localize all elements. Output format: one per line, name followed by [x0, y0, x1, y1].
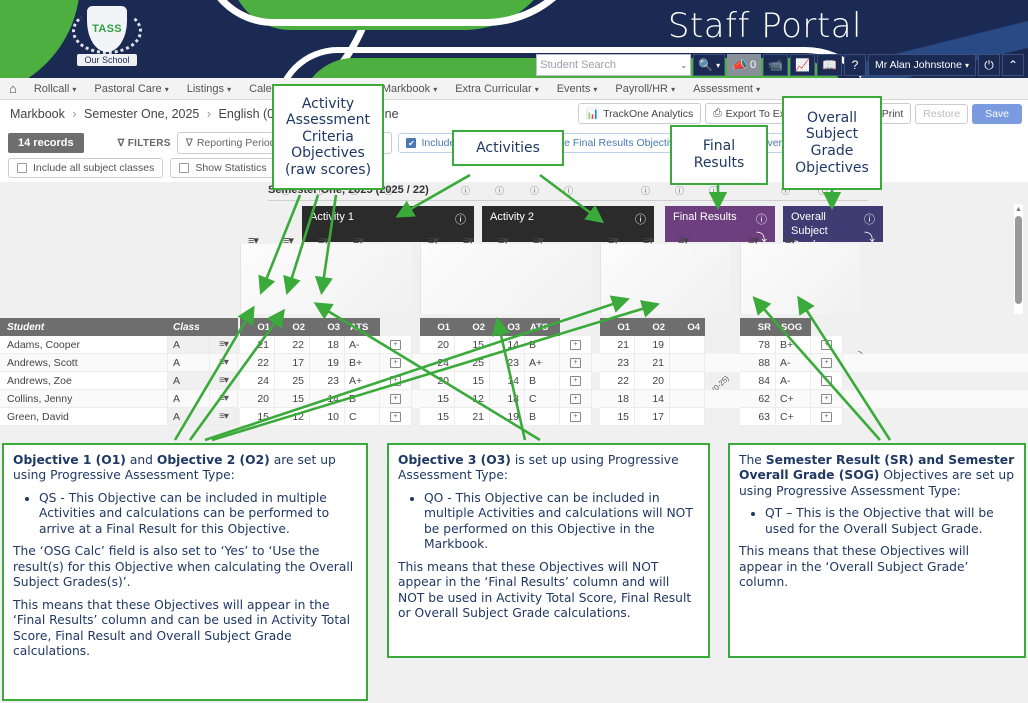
logo-text: TASS — [92, 23, 122, 35]
nav-label: Payroll/HR — [615, 83, 668, 95]
annotation-final-results: Final Results — [670, 125, 768, 185]
annotation-final-results-text: Final Results — [694, 138, 745, 171]
note-icon: + — [570, 394, 581, 404]
nav-events[interactable]: Events ▾ — [548, 83, 607, 95]
cell-a1-o3[interactable]: 19 — [310, 354, 345, 372]
user-name-label: Mr Alan Johnstone — [875, 59, 962, 71]
note-middle-bullet-qo: QO - This Objective can be included in m… — [424, 491, 699, 553]
column-menu-icon[interactable]: ≡▾ — [608, 234, 618, 247]
annotation-activity-criteria-text: Activity Assessment Criteria Objectives … — [285, 96, 371, 179]
group-title: Activity 2 — [490, 211, 534, 237]
cell-a1-note[interactable]: + — [380, 408, 412, 426]
subheader-fr-o4[interactable]: O4 — [670, 318, 705, 336]
cell-osg-note[interactable]: + — [811, 336, 843, 354]
cell-a2-o3[interactable]: 14 — [490, 372, 525, 390]
cell-class: A — [168, 336, 210, 354]
row-menu-icon[interactable]: ≡▾ — [210, 390, 238, 408]
cell-a2-o1[interactable]: 15 — [420, 408, 455, 426]
video-camera-icon: 📹 — [768, 59, 783, 71]
book-icon: 📖 — [822, 59, 837, 71]
cell-a2-o2[interactable]: 15 — [455, 336, 490, 354]
column-menu-icon[interactable]: ≡▾ — [533, 234, 543, 247]
nav-label: Listings — [187, 83, 224, 95]
subheader-a2-o1[interactable]: O1 — [420, 318, 455, 336]
filters-text: FILTERS — [128, 138, 171, 149]
chevron-down-icon: ▾ — [535, 85, 539, 94]
column-menu-icon[interactable]: ≡▾ — [428, 234, 438, 247]
note-icon: + — [821, 412, 832, 422]
note-middle-paragraph-1: Objective 3 (O3) is set up using Progres… — [398, 453, 699, 484]
clock-icon[interactable]: ⓘ — [495, 184, 504, 197]
cell-a1-ats[interactable]: A- — [345, 336, 380, 354]
column-band-final-results — [600, 244, 730, 314]
filter-icon: ∇ — [118, 138, 125, 149]
cell-a1-o1[interactable]: 15 — [240, 408, 275, 426]
include-all-subject-classes-checkbox[interactable]: Include all subject classes — [8, 158, 163, 178]
cell-osg-sog[interactable]: A- — [776, 372, 811, 390]
documents-button[interactable]: 📖 — [817, 54, 842, 76]
column-band-overall-subject-grades — [740, 244, 860, 314]
clock-icon[interactable]: ⓘ — [564, 184, 573, 197]
cell-fr-o4[interactable] — [670, 390, 705, 408]
cell-fr-o1[interactable]: 15 — [600, 408, 635, 426]
note-right-bullets: QT – This is the Objective that will be … — [739, 506, 1015, 537]
reporting-periods-label: Reporting Periods — [197, 137, 281, 149]
cell-fr-o1[interactable]: 23 — [600, 354, 635, 372]
user-menu[interactable]: Mr Alan Johnstone ▾ — [868, 54, 976, 76]
shield-icon: TASS — [87, 6, 127, 52]
cell-class: A — [168, 354, 210, 372]
group-header-overall-subject-grades[interactable]: Overall Subject Grades ⓘ ⤵ — [783, 206, 883, 242]
chevron-down-icon: ▾ — [72, 85, 76, 94]
school-logo[interactable]: TASS Our School — [72, 4, 142, 76]
table-row[interactable]: Green, David A ≡▾ 15 12 10 C + 15 21 19 … — [0, 408, 1028, 426]
column-band-activity-2 — [420, 244, 592, 314]
note-icon: + — [570, 376, 581, 386]
subheader-osg-sr[interactable]: SR — [740, 318, 776, 336]
note-left-bullets: QS - This Objective can be included in m… — [13, 491, 357, 537]
cell-a2-note[interactable]: + — [560, 354, 592, 372]
table-row[interactable]: Andrews, Scott A ≡▾ 22 17 19 B+ + 24 25 … — [0, 354, 1028, 372]
search-placeholder: Student Search — [540, 59, 680, 71]
search-input[interactable]: Student Search ⌄ — [536, 54, 691, 76]
cell-a1-o1[interactable]: 22 — [240, 354, 275, 372]
collapse-banner-button[interactable]: ⌃ — [1002, 54, 1024, 76]
column-menu-icon[interactable]: ≡▾ — [318, 234, 328, 247]
note-left-paragraph-1: Objective 1 (O1) and Objective 2 (O2) ar… — [13, 453, 357, 484]
cell-osg-sog[interactable]: A- — [776, 354, 811, 372]
cell-a2-o1[interactable]: 15 — [420, 390, 455, 408]
cell-class: A — [168, 390, 210, 408]
home-icon: ⌂ — [9, 81, 17, 96]
column-menu-icon[interactable]: ≡▾ — [785, 234, 795, 247]
column-menu-icon[interactable]: ≡▾ — [353, 234, 363, 247]
cell-a1-o2[interactable]: 25 — [275, 372, 310, 390]
top-utility-bar: Student Search ⌄ 🔍 ▾ 📣 0 📹 📈 📖 ? Mr Alan… — [536, 54, 1024, 76]
scroll-up-icon[interactable]: ▲ — [1015, 206, 1022, 213]
subheader-a1-ats[interactable]: ATS — [345, 318, 380, 336]
chevron-down-icon: ▾ — [756, 85, 760, 94]
note-icon: + — [390, 358, 401, 368]
note-middle-bold-o3: Objective 3 (O3) — [398, 453, 511, 467]
cell-fr-o2[interactable]: 20 — [635, 372, 670, 390]
column-menu-icon[interactable]: ≡▾ — [283, 234, 293, 247]
cell-a2-o2[interactable]: 15 — [455, 372, 490, 390]
cell-a2-o2[interactable]: 12 — [455, 390, 490, 408]
search-button[interactable]: 🔍 ▾ — [693, 54, 725, 76]
annotation-overall-subject-text: Overall Subject Grade Objectives — [795, 110, 869, 176]
note-icon: + — [570, 358, 581, 368]
chevron-down-icon: ▾ — [965, 61, 969, 70]
cell-a2-note[interactable]: + — [560, 372, 592, 390]
cell-fr-o1[interactable]: 21 — [600, 336, 635, 354]
subheader-a1-o1[interactable]: O1 — [240, 318, 275, 336]
subheader-a2-ats[interactable]: ATS — [525, 318, 560, 336]
note-icon: + — [390, 340, 401, 350]
logo-ribbon: Our School — [77, 54, 137, 66]
cell-a2-ats[interactable]: C — [525, 390, 560, 408]
print-label: Print — [882, 108, 904, 120]
cell-a1-o2[interactable]: 17 — [275, 354, 310, 372]
table-row[interactable]: Collins, Jenny A ≡▾ 20 15 14 B + 15 12 1… — [0, 390, 1028, 408]
cell-a1-o1[interactable]: 24 — [240, 372, 275, 390]
cell-osg-sog[interactable]: B+ — [776, 336, 811, 354]
cell-osg-note[interactable]: + — [811, 354, 843, 372]
cell-osg-sr[interactable]: 84 — [740, 372, 776, 390]
nav-pastoral-care[interactable]: Pastoral Care ▾ — [85, 83, 177, 95]
include-all-classes-label: Include all subject classes — [33, 162, 154, 174]
cell-osg-sr[interactable]: 78 — [740, 336, 776, 354]
column-menu-icon[interactable]: ≡▾ — [463, 234, 473, 247]
note-icon: + — [390, 412, 401, 422]
column-menu-icon[interactable]: ≡▾ — [748, 234, 758, 247]
cell-a1-ats[interactable]: C — [345, 408, 380, 426]
help-button[interactable]: ? — [844, 54, 866, 76]
cell-class: A — [168, 372, 210, 390]
chevron-down-icon: ▾ — [433, 85, 437, 94]
filter-icon: ∇ — [186, 137, 193, 149]
trackone-label: TrackOne Analytics — [603, 108, 693, 120]
help-circle-icon: ? — [852, 59, 859, 71]
cell-a2-o1[interactable]: 20 — [420, 372, 455, 390]
cell-a2-note[interactable]: + — [560, 408, 592, 426]
clock-icon[interactable]: ⓘ — [461, 184, 470, 197]
page-title: Staff Portal — [668, 6, 862, 46]
megaphone-icon: 📣 — [732, 59, 747, 71]
note-left-bold-o1: Objective 1 (O1) — [13, 453, 126, 467]
chevron-down-icon: ▾ — [671, 85, 675, 94]
cell-a2-o2[interactable]: 25 — [455, 354, 490, 372]
cell-osg-note[interactable]: + — [811, 408, 843, 426]
cell-a2-o3[interactable]: 23 — [490, 354, 525, 372]
subheader-fr-o2[interactable]: O2 — [635, 318, 670, 336]
note-right-paragraph-2: This means that these Objectives will ap… — [739, 544, 1015, 590]
chevron-down-icon: ▾ — [227, 85, 231, 94]
cell-fr-o4[interactable] — [670, 354, 705, 372]
nav-extra-curricular[interactable]: Extra Curricular ▾ — [446, 83, 547, 95]
column-menu-icon[interactable]: ≡▾ — [643, 234, 653, 247]
note-right-paragraph-1: The Semester Result (SR) and Semester Ov… — [739, 453, 1015, 499]
clock-icon[interactable]: ⓘ — [709, 184, 718, 197]
note-icon: + — [821, 340, 832, 350]
note-left-paragraph-3: This means that these Objectives will ap… — [13, 598, 357, 660]
note-icon: + — [821, 376, 832, 386]
row-menu-icon[interactable]: ≡▾ — [210, 372, 238, 390]
chart-icon: 📈 — [795, 59, 810, 71]
nav-label: Assessment — [693, 83, 753, 95]
note-icon: + — [390, 394, 401, 404]
banner-decoration-white-top — [200, 0, 595, 26]
cell-osg-note[interactable]: + — [811, 372, 843, 390]
group-title: Overall Subject Grades — [791, 211, 855, 237]
row-menu-icon[interactable]: ≡▾ — [210, 408, 238, 426]
chevron-down-icon[interactable]: ⌄ — [680, 61, 687, 70]
cell-a2-o3[interactable]: 19 — [490, 408, 525, 426]
note-middle-bullets: QO - This Objective can be included in m… — [398, 491, 699, 553]
power-icon: ⏻ — [984, 59, 994, 71]
subheader-fr-o1[interactable]: O1 — [600, 318, 635, 336]
cell-a2-o1[interactable]: 24 — [420, 354, 455, 372]
breadcrumb-separator: › — [207, 107, 211, 121]
restore-button[interactable]: Restore — [915, 104, 968, 124]
nav-home[interactable]: ⌂ — [0, 81, 25, 96]
period-divider — [268, 200, 868, 201]
checkbox-icon: ✔ — [406, 138, 416, 148]
note-box-right: The Semester Result (SR) and Semester Ov… — [728, 443, 1026, 658]
cell-a1-o2[interactable]: 15 — [275, 390, 310, 408]
note-icon: + — [570, 340, 581, 350]
cell-a1-o1[interactable]: 20 — [240, 390, 275, 408]
note-left-bullet-qs: QS - This Objective can be included in m… — [39, 491, 357, 537]
clock-icon[interactable]: ⓘ — [530, 184, 539, 197]
cell-a1-o3[interactable]: 18 — [310, 336, 345, 354]
cell-fr-o2[interactable]: 19 — [635, 336, 670, 354]
clock-icon[interactable]: ⓘ — [384, 184, 393, 197]
cell-a1-o2[interactable]: 22 — [275, 336, 310, 354]
cell-a1-o3[interactable]: 10 — [310, 408, 345, 426]
cell-a2-ats[interactable]: B — [525, 336, 560, 354]
note-icon: + — [821, 394, 832, 404]
note-icon: + — [570, 412, 581, 422]
cell-fr-o1[interactable]: 18 — [600, 390, 635, 408]
annotation-activity-criteria: Activity Assessment Criteria Objectives … — [272, 84, 384, 190]
checkbox-icon — [179, 163, 189, 173]
note-icon: + — [390, 376, 401, 386]
announcement-count: 0 — [750, 59, 756, 71]
annotation-overall-subject: Overall Subject Grade Objectives — [782, 96, 882, 190]
chart-icon: 📊 — [586, 107, 599, 120]
cell-fr-o4[interactable] — [670, 336, 705, 354]
markbook-grid[interactable]: Semester One, 2025 (2025 / 22) Activity … — [0, 182, 1028, 440]
clock-icon[interactable]: ⓘ — [641, 184, 650, 197]
cell-a2-note[interactable]: + — [560, 390, 592, 408]
cell-a1-ats[interactable]: B — [345, 390, 380, 408]
chevron-up-icon: ⌃ — [1008, 59, 1018, 71]
column-band-activity-1 — [240, 244, 412, 314]
row-menu-icon[interactable]: ≡▾ — [210, 336, 238, 354]
clock-icon[interactable]: ⓘ — [675, 184, 684, 197]
info-icon[interactable]: ⓘ — [756, 211, 767, 227]
cell-osg-sr[interactable]: 88 — [740, 354, 776, 372]
nav-label: Events — [557, 83, 591, 95]
cell-student: Green, David — [0, 408, 168, 426]
nav-label: Pastoral Care — [94, 83, 161, 95]
note-left-paragraph-2: The ‘OSG Calc’ field is also set to ‘Yes… — [13, 544, 357, 590]
cell-osg-sog[interactable]: C+ — [776, 390, 811, 408]
chevron-down-icon: ▾ — [593, 85, 597, 94]
subheader-a1-o2[interactable]: O2 — [275, 318, 310, 336]
cell-osg-sog[interactable]: C+ — [776, 408, 811, 426]
cell-a1-ats[interactable]: A+ — [345, 372, 380, 390]
subheader-a2-o3[interactable]: O3 — [490, 318, 525, 336]
checkbox-icon — [17, 163, 27, 173]
nav-label: Markbook — [382, 83, 430, 95]
breadcrumb-item-markbook[interactable]: Markbook — [10, 107, 65, 121]
scrollbar-thumb[interactable] — [1015, 216, 1022, 304]
cell-fr-o2[interactable]: 21 — [635, 354, 670, 372]
cell-student: Collins, Jenny — [0, 390, 168, 408]
search-dropdown-caret: ▾ — [716, 61, 720, 70]
class-header-label: Class — [173, 322, 200, 333]
cell-a1-ats[interactable]: B+ — [345, 354, 380, 372]
note-middle-paragraph-2: This means that these Objectives will NO… — [398, 560, 699, 622]
chevron-down-icon: ▾ — [165, 85, 169, 94]
show-statistics-checkbox[interactable]: Show Statistics — [170, 158, 275, 178]
nav-payroll-hr[interactable]: Payroll/HR ▾ — [606, 83, 684, 95]
column-header-class[interactable]: Class — [168, 318, 238, 336]
cell-a2-o2[interactable]: 21 — [455, 408, 490, 426]
cell-a1-o1[interactable]: 21 — [240, 336, 275, 354]
trackone-analytics-button[interactable]: 📊 TrackOne Analytics — [578, 103, 701, 124]
filters-label[interactable]: ∇ FILTERS — [118, 138, 171, 149]
note-right-head: The — [739, 453, 766, 467]
subheader-a1-o3[interactable]: O3 — [310, 318, 345, 336]
cell-student: Adams, Cooper — [0, 336, 168, 354]
cell-fr-o2[interactable]: 17 — [635, 408, 670, 426]
cell-a1-note[interactable]: + — [380, 372, 412, 390]
cell-a2-o1[interactable]: 20 — [420, 336, 455, 354]
group-title: Activity 1 — [310, 211, 354, 237]
cell-fr-o4[interactable] — [670, 372, 705, 390]
announcements-button[interactable]: 📣 0 — [727, 54, 761, 76]
table-row[interactable]: Adams, Cooper A ≡▾ 21 22 18 A- + 20 15 1… — [0, 336, 1028, 354]
cell-a2-ats[interactable]: B — [525, 372, 560, 390]
nav-rollcall[interactable]: Rollcall ▾ — [25, 83, 86, 95]
logout-button[interactable]: ⏻ — [978, 54, 1000, 76]
cell-osg-note[interactable]: + — [811, 390, 843, 408]
note-box-left: Objective 1 (O1) and Objective 2 (O2) ar… — [2, 443, 368, 701]
cell-fr-o4[interactable] — [670, 408, 705, 426]
column-menu-icon[interactable]: ≡▾ — [248, 234, 258, 247]
cell-a1-note[interactable]: + — [380, 336, 412, 354]
cell-a1-note[interactable]: + — [380, 390, 412, 408]
cell-fr-o2[interactable]: 14 — [635, 390, 670, 408]
export-icon: ⎙ — [713, 107, 721, 120]
subheader-osg-sog[interactable]: SOG — [776, 318, 811, 336]
cell-a2-o3[interactable]: 14 — [490, 336, 525, 354]
cell-a1-o2[interactable]: 12 — [275, 408, 310, 426]
note-icon: + — [821, 358, 832, 368]
row-menu-icon[interactable]: ≡▾ — [210, 354, 238, 372]
cell-a2-ats[interactable]: A+ — [525, 354, 560, 372]
download-icon[interactable]: ⤵ — [864, 229, 875, 245]
cell-a1-o3[interactable]: 14 — [310, 390, 345, 408]
nav-label: Rollcall — [34, 83, 69, 95]
nav-label: Extra Curricular — [455, 83, 531, 95]
column-menu-icon[interactable]: ≡▾ — [498, 234, 508, 247]
cell-a2-ats[interactable]: B — [525, 408, 560, 426]
note-box-middle: Objective 3 (O3) is set up using Progres… — [387, 443, 710, 658]
save-button[interactable]: Save — [972, 104, 1022, 124]
annotation-activities-text: Activities — [476, 140, 540, 157]
info-icon[interactable]: ⓘ — [455, 211, 466, 227]
vertical-scrollbar[interactable]: ▲ — [1014, 204, 1023, 314]
cell-a2-note[interactable]: + — [560, 336, 592, 354]
table-row[interactable]: Andrews, Zoe A ≡▾ 24 25 23 A+ + 20 15 14… — [0, 372, 1028, 390]
subheader-a2-o2[interactable]: O2 — [455, 318, 490, 336]
search-icon: 🔍 — [698, 59, 713, 71]
nav-listings[interactable]: Listings ▾ — [178, 83, 240, 95]
info-icon[interactable]: ⓘ — [864, 211, 875, 227]
note-left-and: and — [126, 453, 157, 467]
note-left-bold-o2: Objective 2 (O2) — [157, 453, 270, 467]
show-statistics-label: Show Statistics — [195, 162, 266, 174]
cell-student: Andrews, Scott — [0, 354, 168, 372]
record-count-badge: 14 records — [8, 133, 84, 153]
cell-a1-o3[interactable]: 23 — [310, 372, 345, 390]
cell-fr-o1[interactable]: 22 — [600, 372, 635, 390]
nav-assessment[interactable]: Assessment ▾ — [684, 83, 769, 95]
info-icon[interactable]: ⓘ — [635, 211, 646, 227]
cell-class: A — [168, 408, 210, 426]
cell-osg-sr[interactable]: 63 — [740, 408, 776, 426]
student-header-label: Student — [7, 322, 44, 333]
analytics-button[interactable]: 📈 — [790, 54, 815, 76]
column-menu-icon[interactable]: ≡▾ — [678, 234, 688, 247]
cell-a2-o3[interactable]: 18 — [490, 390, 525, 408]
cell-student: Andrews, Zoe — [0, 372, 168, 390]
annotation-activities: Activities — [452, 130, 564, 166]
cell-osg-sr[interactable]: 62 — [740, 390, 776, 408]
note-right-bullet-qt: QT – This is the Objective that will be … — [765, 506, 1015, 537]
breadcrumb-separator: › — [72, 107, 76, 121]
video-button[interactable]: 📹 — [763, 54, 788, 76]
cell-a1-note[interactable]: + — [380, 354, 412, 372]
breadcrumb-item-semester[interactable]: Semester One, 2025 — [84, 107, 199, 121]
